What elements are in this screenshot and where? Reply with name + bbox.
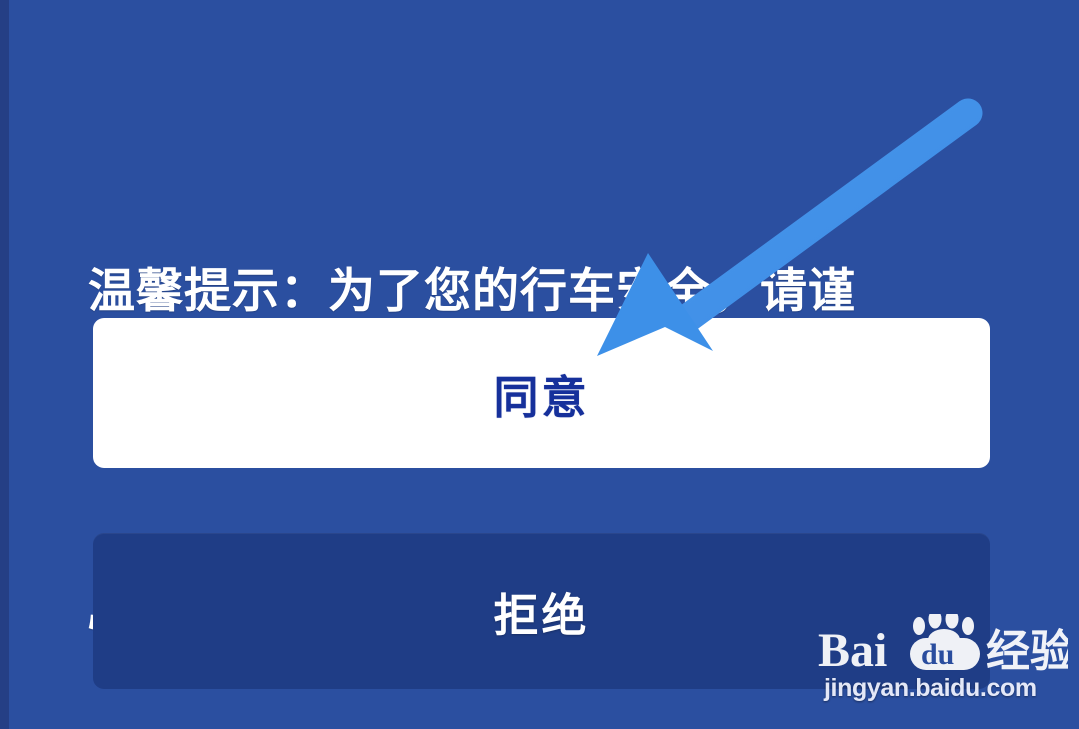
watermark-bai-text: Bai <box>818 624 887 672</box>
watermark-logo-row: Bai du 经验 <box>818 614 1068 672</box>
baidu-logo-icon: Bai du 经验 <box>818 614 1068 672</box>
watermark-url: jingyan.baidu.com <box>824 674 1037 703</box>
refuse-button-label: 拒绝 <box>493 579 589 644</box>
left-edge-strip <box>0 0 9 729</box>
agree-button-label: 同意 <box>493 361 589 426</box>
watermark-du-text: du <box>921 638 954 671</box>
baidu-watermark: Bai du 经验 jingyan.baidu.com <box>818 614 1068 714</box>
watermark-suffix-text: 经验 <box>986 627 1068 672</box>
agree-button[interactable]: 同意 <box>93 318 990 468</box>
mobile-dialog-screen: 温馨提示：为了您的行车安全，请谨 慎操作专心驾驶。 同意 拒绝 <box>0 0 1079 729</box>
